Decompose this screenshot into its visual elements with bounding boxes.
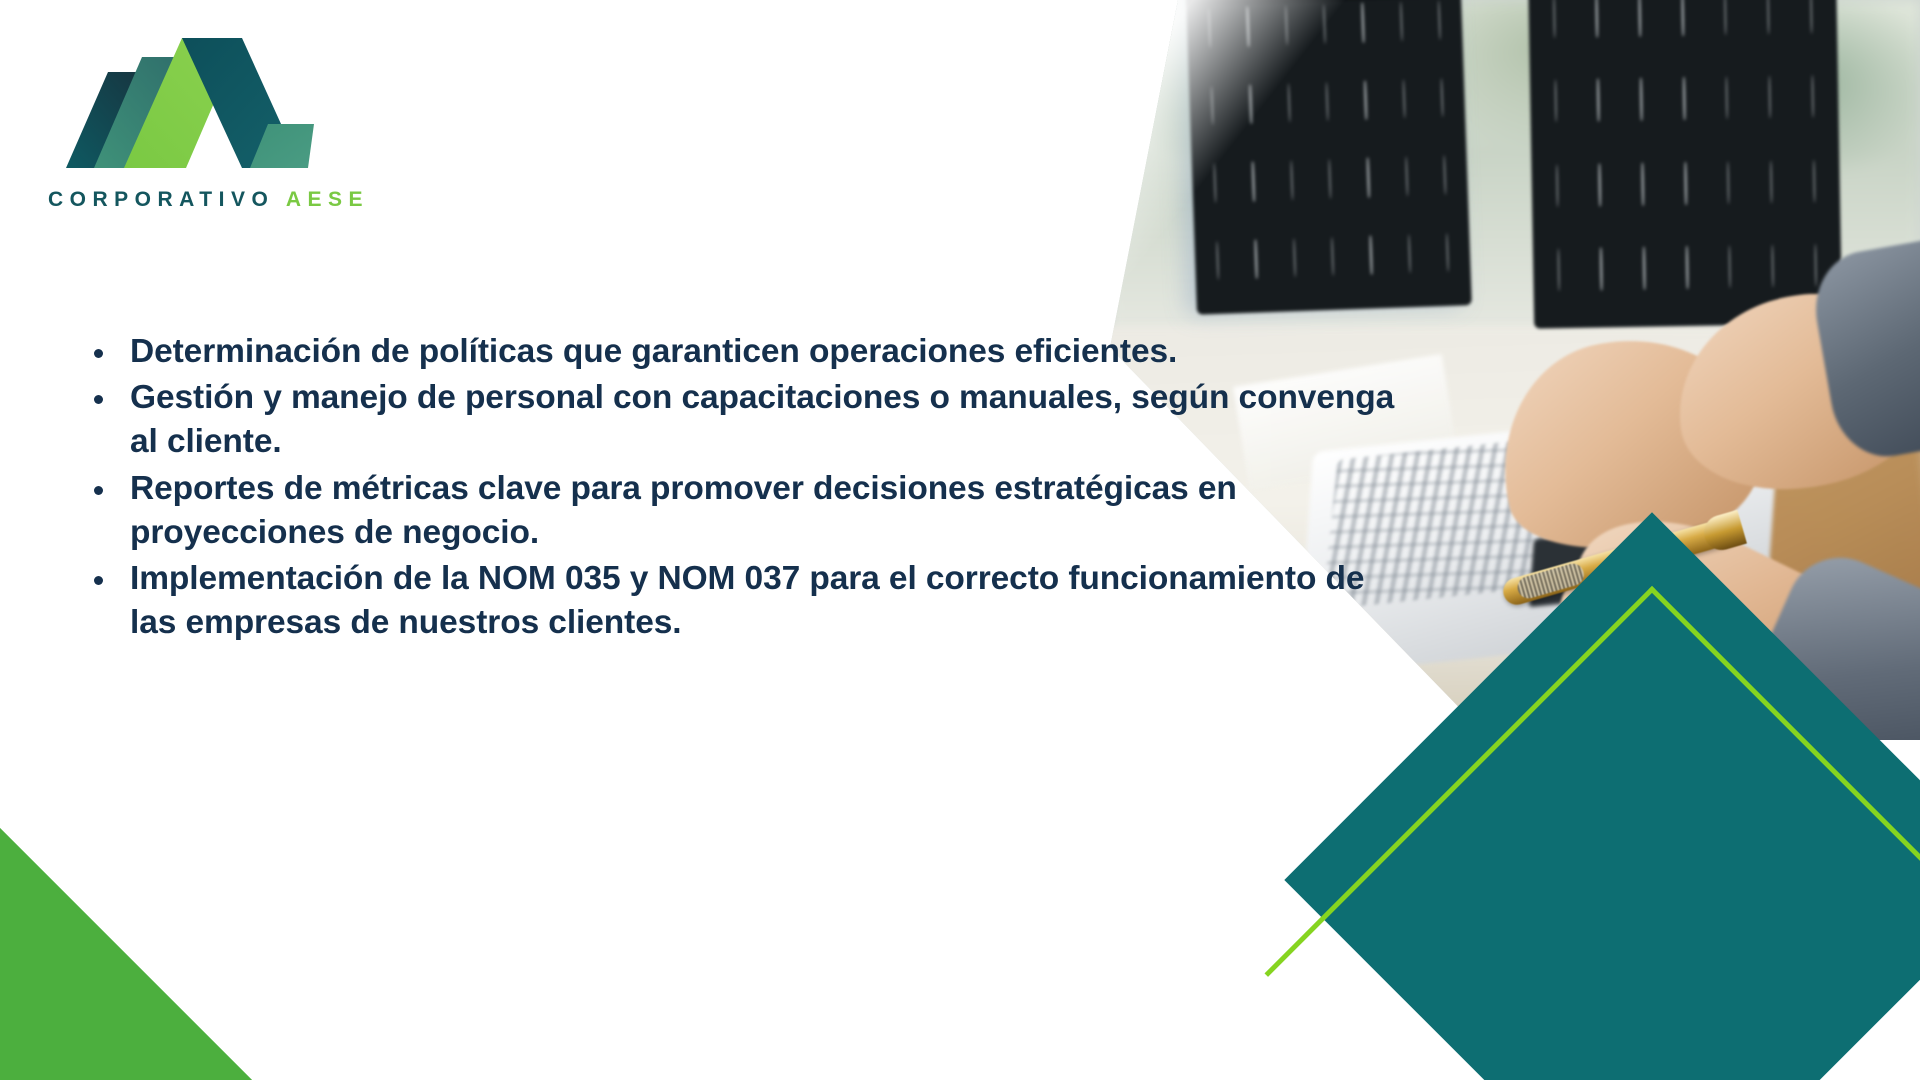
bullet-dot-icon [94, 576, 103, 585]
slide-canvas: CORPORATIVO AESE Determinación de políti… [0, 0, 1920, 1080]
photo-monitor-left [1185, 0, 1472, 315]
list-item: Reportes de métricas clave para promover… [78, 467, 1398, 555]
monitor-icon-grid [1553, 0, 1817, 291]
brand-name-secondary: AESE [286, 188, 369, 211]
bullet-dot-icon [94, 486, 103, 495]
bullet-text: Determinación de políticas que garantice… [130, 333, 1177, 370]
brand-logo: CORPORATIVO AESE [46, 26, 336, 212]
bullet-content-area: Determinación de políticas que garantice… [78, 330, 1398, 648]
mountain-a-logo-icon [46, 26, 316, 186]
bullet-text: Implementación de la NOM 035 y NOM 037 p… [130, 560, 1364, 641]
brand-name-primary: CORPORATIVO [48, 188, 274, 211]
bullet-text: Reportes de métricas clave para promover… [130, 470, 1237, 551]
list-item: Determinación de políticas que garantice… [78, 330, 1398, 374]
bullet-list: Determinación de políticas que garantice… [78, 330, 1398, 646]
brand-wordmark: CORPORATIVO AESE [48, 188, 336, 212]
green-triangle-shape [0, 818, 262, 1080]
monitor-icon-grid [1208, 0, 1449, 280]
photo-monitor-right [1528, 0, 1842, 328]
bullet-text: Gestión y manejo de personal con capacit… [130, 379, 1394, 460]
bullet-dot-icon [94, 349, 103, 358]
bullet-dot-icon [94, 395, 103, 404]
list-item: Implementación de la NOM 035 y NOM 037 p… [78, 557, 1398, 645]
list-item: Gestión y manejo de personal con capacit… [78, 376, 1398, 464]
